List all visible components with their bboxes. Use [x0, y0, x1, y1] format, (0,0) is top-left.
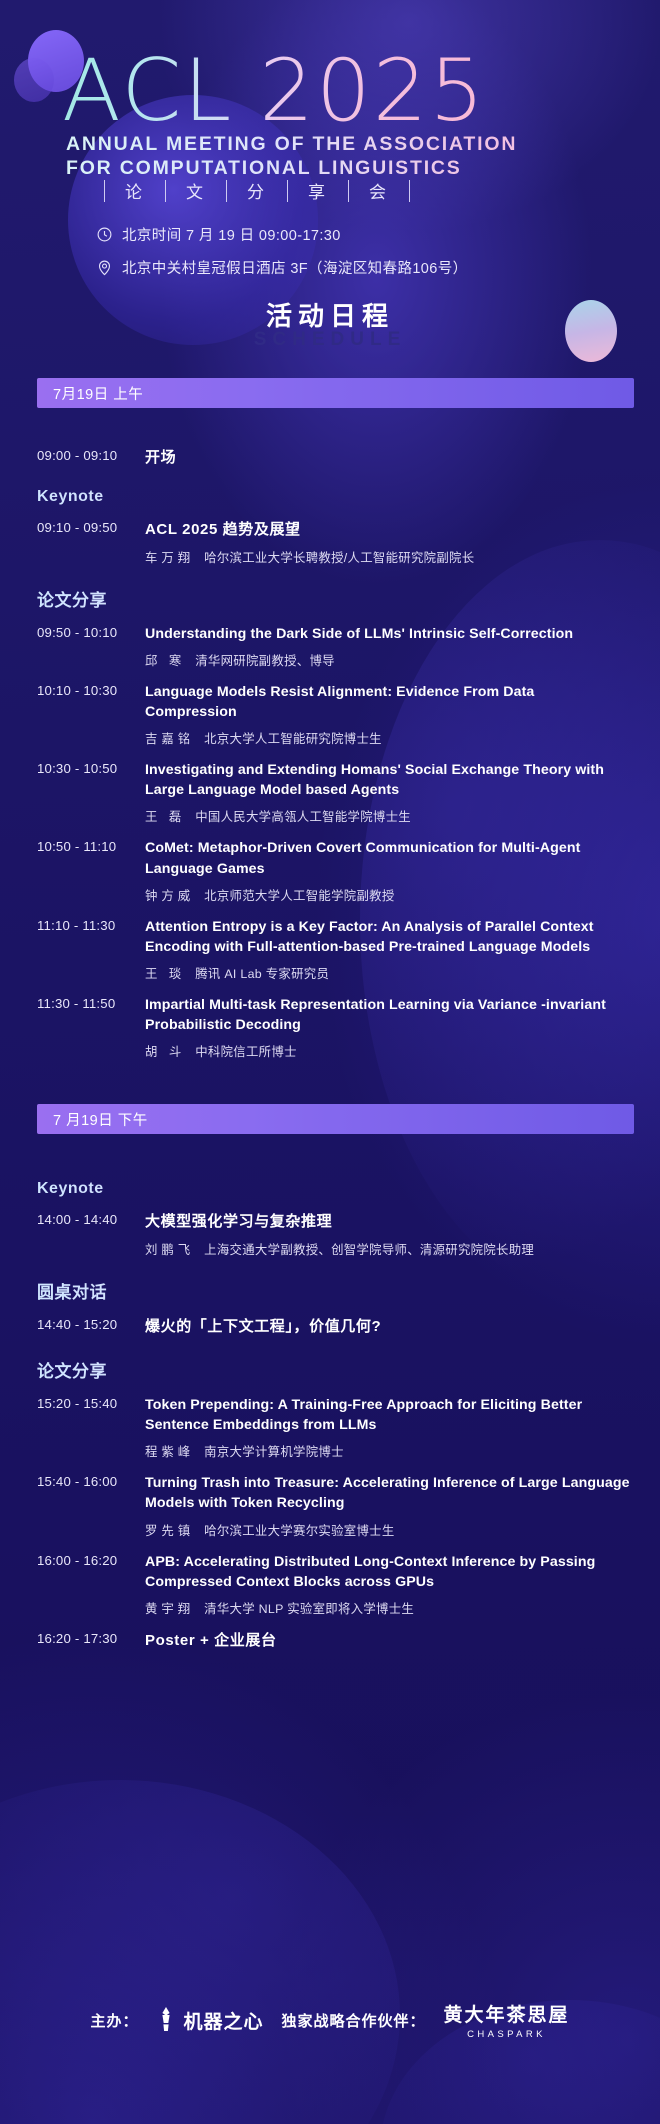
section-body: Keynote14:00 - 14:40大模型强化学习与复杂推理刘鹏飞上海交通大…	[0, 1134, 660, 1695]
schedule-item-main: CoMet: Metaphor-Driven Covert Communicat…	[145, 838, 630, 903]
speaker-affiliation: 南京大学计算机学院博士	[204, 1445, 344, 1459]
speaker-affiliation: 北京大学人工智能研究院博士生	[204, 732, 382, 746]
partner-name-en: CHASPARK	[467, 2029, 546, 2040]
schedule-item: 15:20 - 15:40Token Prepending: A Trainin…	[37, 1395, 630, 1460]
poster-root: ACL2025 ANNUAL MEETING OF THE ASSOCIATIO…	[0, 0, 660, 2124]
section-header-label: 7月19日 上午	[53, 383, 143, 404]
speaker-affiliation: 哈尔滨工业大学赛尔实验室博士生	[204, 1524, 394, 1538]
cn-char-0: 论	[125, 178, 145, 203]
schedule-item-title: Poster + 企业展台	[145, 1630, 630, 1651]
poster-footer: 主办： 机器之心 独家战略合作伙伴： 黄大年茶思屋 CHASPARK	[0, 2000, 660, 2040]
schedule-item-title: 大模型强化学习与复杂推理	[145, 1211, 630, 1232]
schedule-item-speaker: 钟方威北京师范大学人工智能学院副教授	[145, 886, 630, 904]
divider-bar	[409, 180, 410, 202]
section-header-bar: 7月19日 上午	[37, 378, 634, 408]
schedule-item-title: Turning Trash into Treasure: Acceleratin…	[145, 1473, 630, 1513]
organizer-logo: 机器之心	[156, 2006, 263, 2034]
schedule-item-speaker: 吉嘉铭北京大学人工智能研究院博士生	[145, 729, 630, 747]
decorative-blob-purple-small	[14, 58, 54, 102]
schedule-item-speaker: 罗先镇哈尔滨工业大学赛尔实验室博士生	[145, 1521, 630, 1539]
schedule-item-speaker: 王 琰腾讯 AI Lab 专家研究员	[145, 964, 630, 982]
cn-char-3: 享	[308, 178, 328, 203]
decorative-swoosh-bottom-left	[0, 1780, 400, 2124]
schedule-item-title: Investigating and Extending Homans' Soci…	[145, 760, 630, 800]
event-time-row: 北京时间 7 月 19 日 09:00-17:30	[96, 224, 468, 245]
speaker-affiliation: 清华网研院副教授、博导	[195, 654, 335, 668]
schedule-item-time: 11:30 - 11:50	[37, 995, 145, 1011]
divider-bar	[287, 180, 288, 202]
schedule-item: 10:30 - 10:50Investigating and Extending…	[37, 760, 630, 825]
schedule-item-main: Investigating and Extending Homans' Soci…	[145, 760, 630, 825]
divider-bar	[104, 180, 105, 202]
spacer	[37, 1134, 630, 1160]
spacer	[37, 1060, 630, 1104]
speaker-affiliation: 中科院信工所博士	[195, 1045, 297, 1059]
section-body: 09:00 - 09:10开场Keynote09:10 - 09:50ACL 2…	[0, 408, 660, 1104]
schedule-item-time: 09:00 - 09:10	[37, 447, 145, 463]
speaker-affiliation: 哈尔滨工业大学长聘教授/人工智能研究院副院长	[204, 551, 474, 565]
schedule-item: 11:30 - 11:50Impartial Multi-task Repres…	[37, 995, 630, 1060]
clock-icon	[96, 226, 113, 243]
event-subtitle-line1: ANNUAL MEETING OF THE ASSOCIATION	[66, 132, 596, 156]
partner-name-cn: 黄大年茶思屋	[444, 2000, 570, 2027]
divider-bar	[226, 180, 227, 202]
spacer	[37, 1651, 630, 1695]
divider-bar	[348, 180, 349, 202]
location-pin-icon	[96, 259, 113, 276]
schedule-item: 11:10 - 11:30Attention Entropy is a Key …	[37, 917, 630, 982]
schedule-item-main: Poster + 企业展台	[145, 1630, 630, 1651]
schedule-item-title: Understanding the Dark Side of LLMs' Int…	[145, 624, 630, 644]
event-location-row: 北京中关村皇冠假日酒店 3F（海淀区知春路106号）	[96, 257, 468, 278]
cn-char-4: 会	[369, 178, 389, 203]
schedule-heading: 活动日程 SCHEDULE	[0, 296, 660, 351]
schedule-item-main: 大模型强化学习与复杂推理刘鹏飞上海交通大学副教授、创智学院导师、清源研究院院长助…	[145, 1211, 630, 1257]
event-title-year: 2025	[259, 41, 486, 141]
schedule-item-main: Impartial Multi-task Representation Lear…	[145, 995, 630, 1060]
schedule-item-title: Language Models Resist Alignment: Eviden…	[145, 682, 630, 722]
schedule-item-speaker: 车万翔哈尔滨工业大学长聘教授/人工智能研究院副院长	[145, 548, 630, 566]
schedule-item-main: Token Prepending: A Training-Free Approa…	[145, 1395, 630, 1460]
schedule-item-time: 10:30 - 10:50	[37, 760, 145, 776]
schedule-item-time: 09:10 - 09:50	[37, 519, 145, 535]
schedule-item-title: APB: Accelerating Distributed Long-Conte…	[145, 1552, 630, 1592]
schedule-item: 16:20 - 17:30Poster + 企业展台	[37, 1630, 630, 1651]
schedule-item-time: 16:00 - 16:20	[37, 1552, 145, 1568]
schedule-item-speaker: 程紫峰南京大学计算机学院博士	[145, 1442, 630, 1460]
schedule-item-title: ACL 2025 趋势及展望	[145, 519, 630, 540]
schedule-item: 16:00 - 16:20APB: Accelerating Distribut…	[37, 1552, 630, 1617]
speaker-affiliation: 中国人民大学高瓴人工智能学院博士生	[195, 810, 411, 824]
speaker-affiliation: 清华大学 NLP 实验室即将入学博士生	[204, 1602, 414, 1616]
event-location-text: 北京中关村皇冠假日酒店 3F（海淀区知春路106号）	[122, 257, 468, 278]
schedule-item-time: 14:00 - 14:40	[37, 1211, 145, 1227]
speaker-affiliation: 北京师范大学人工智能学院副教授	[204, 889, 394, 903]
schedule-item-time: 10:10 - 10:30	[37, 682, 145, 698]
speaker-name: 胡 斗	[145, 1045, 185, 1059]
organizer-label: 主办：	[90, 2010, 138, 2031]
divider-bar	[165, 180, 166, 202]
schedule-item: 10:50 - 11:10CoMet: Metaphor-Driven Cove…	[37, 838, 630, 903]
speaker-name: 邱 寒	[145, 654, 185, 668]
schedule-group-label: 论文分享	[37, 1357, 630, 1382]
schedule-item-time: 10:50 - 11:10	[37, 838, 145, 854]
schedule-item-speaker: 胡 斗中科院信工所博士	[145, 1042, 630, 1060]
schedule-item-speaker: 王 磊中国人民大学高瓴人工智能学院博士生	[145, 807, 630, 825]
schedule-sections: 7月19日 上午09:00 - 09:10开场Keynote09:10 - 09…	[0, 378, 660, 1695]
schedule-item-title: 开场	[145, 447, 630, 468]
schedule-item: 10:10 - 10:30Language Models Resist Alig…	[37, 682, 630, 747]
event-meta: 北京时间 7 月 19 日 09:00-17:30 北京中关村皇冠假日酒店 3F…	[96, 224, 468, 290]
schedule-item-time: 15:20 - 15:40	[37, 1395, 145, 1411]
speaker-name: 刘鹏飞	[145, 1243, 194, 1257]
schedule-item-main: APB: Accelerating Distributed Long-Conte…	[145, 1552, 630, 1617]
speaker-affiliation: 上海交通大学副教授、创智学院导师、清源研究院院长助理	[204, 1243, 534, 1257]
schedule-item-title: Token Prepending: A Training-Free Approa…	[145, 1395, 630, 1435]
speaker-name: 罗先镇	[145, 1524, 194, 1538]
event-title-acl: ACL	[62, 41, 233, 141]
schedule-item-title: CoMet: Metaphor-Driven Covert Communicat…	[145, 838, 630, 878]
schedule-item-time: 14:40 - 15:20	[37, 1316, 145, 1332]
organizer-name: 机器之心	[183, 2007, 263, 2034]
schedule-group-label: Keynote	[37, 1180, 630, 1198]
schedule-group-label: 论文分享	[37, 586, 630, 611]
event-subtitle-chinese: 论 文 分 享 会	[84, 178, 430, 203]
schedule-item-time: 11:10 - 11:30	[37, 917, 145, 933]
schedule-item: 15:40 - 16:00Turning Trash into Treasure…	[37, 1473, 630, 1538]
schedule-item-title: Impartial Multi-task Representation Lear…	[145, 995, 630, 1035]
speaker-name: 黄宇翔	[145, 1602, 194, 1616]
schedule-title-en: SCHEDULE	[0, 329, 660, 351]
schedule-item-main: Attention Entropy is a Key Factor: An An…	[145, 917, 630, 982]
partner-logo: 黄大年茶思屋 CHASPARK	[444, 2000, 570, 2040]
schedule-item-main: 爆火的「上下文工程」，价值几何?	[145, 1316, 630, 1337]
schedule-item: 09:00 - 09:10开场	[37, 447, 630, 468]
schedule-item-main: Turning Trash into Treasure: Acceleratin…	[145, 1473, 630, 1538]
partner-label: 独家战略合作伙伴：	[282, 2010, 426, 2031]
cn-char-2: 分	[247, 178, 267, 203]
schedule-item: 09:10 - 09:50ACL 2025 趋势及展望车万翔哈尔滨工业大学长聘教…	[37, 519, 630, 565]
schedule-item-time: 15:40 - 16:00	[37, 1473, 145, 1489]
section-header-label: 7 月19日 下午	[53, 1109, 148, 1130]
event-subtitle: ANNUAL MEETING OF THE ASSOCIATION FOR CO…	[66, 132, 596, 181]
schedule-item-speaker: 邱 寒清华网研院副教授、博导	[145, 651, 630, 669]
speaker-name: 王 琰	[145, 967, 185, 981]
schedule-item-time: 16:20 - 17:30	[37, 1630, 145, 1646]
schedule-item: 14:00 - 14:40大模型强化学习与复杂推理刘鹏飞上海交通大学副教授、创智…	[37, 1211, 630, 1257]
event-title: ACL2025	[62, 48, 486, 134]
spacer	[37, 408, 630, 434]
schedule-item-main: 开场	[145, 447, 630, 468]
speaker-name: 王 磊	[145, 810, 185, 824]
schedule-group-label: 圆桌对话	[37, 1278, 630, 1303]
schedule-item-time: 09:50 - 10:10	[37, 624, 145, 640]
schedule-item: 09:50 - 10:10Understanding the Dark Side…	[37, 624, 630, 669]
schedule-item-main: ACL 2025 趋势及展望车万翔哈尔滨工业大学长聘教授/人工智能研究院副院长	[145, 519, 630, 565]
event-time-text: 北京时间 7 月 19 日 09:00-17:30	[122, 224, 341, 245]
schedule-item-title: 爆火的「上下文工程」，价值几何?	[145, 1316, 630, 1337]
schedule-item: 14:40 - 15:20爆火的「上下文工程」，价值几何?	[37, 1316, 630, 1337]
cn-char-1: 文	[186, 178, 206, 203]
schedule-title-cn: 活动日程	[0, 296, 660, 333]
schedule-group-label: Keynote	[37, 488, 630, 506]
speaker-name: 钟方威	[145, 889, 194, 903]
schedule-item-speaker: 黄宇翔清华大学 NLP 实验室即将入学博士生	[145, 1599, 630, 1617]
speaker-name: 车万翔	[145, 551, 194, 565]
speaker-affiliation: 腾讯 AI Lab 专家研究员	[195, 967, 329, 981]
schedule-item-main: Understanding the Dark Side of LLMs' Int…	[145, 624, 630, 669]
schedule-item-main: Language Models Resist Alignment: Eviden…	[145, 682, 630, 747]
speaker-name: 吉嘉铭	[145, 732, 194, 746]
schedule-item-speaker: 刘鹏飞上海交通大学副教授、创智学院导师、清源研究院院长助理	[145, 1240, 630, 1258]
section-header-bar: 7 月19日 下午	[37, 1104, 634, 1134]
synced-logo-icon	[156, 2006, 176, 2034]
speaker-name: 程紫峰	[145, 1445, 194, 1459]
schedule-item-title: Attention Entropy is a Key Factor: An An…	[145, 917, 630, 957]
